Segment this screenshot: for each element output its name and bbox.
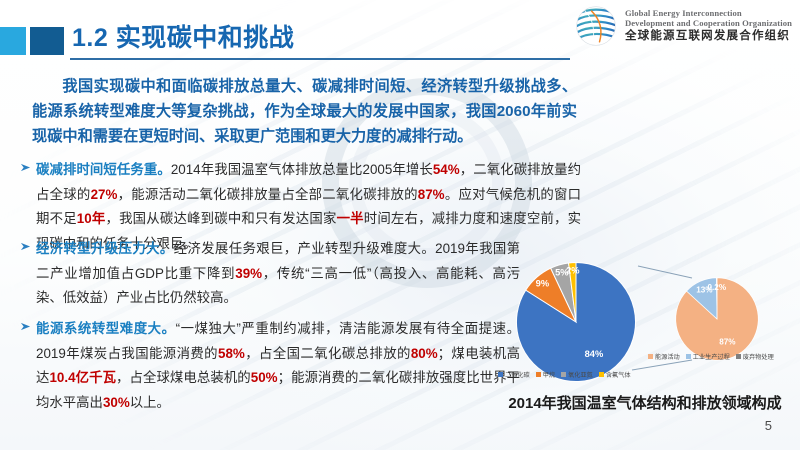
emphasis-figure: 87% — [418, 187, 445, 202]
pie-slice-label: 87% — [719, 337, 736, 346]
emphasis-figure: 27% — [91, 187, 118, 202]
legend-item[interactable]: 二氧化碳 — [498, 370, 530, 379]
legend-swatch-icon — [561, 372, 566, 377]
pie-slice-label: 84% — [585, 349, 604, 359]
legend-item[interactable]: 废弃物处理 — [736, 352, 774, 361]
legend-label: 工业生产过程 — [693, 352, 730, 361]
body-text: ，占全球煤电总装机的 — [116, 370, 251, 385]
pie-slice-label: 2% — [566, 266, 580, 276]
legend-label: 氧化亚氮 — [568, 370, 593, 379]
emphasis-figure: 54% — [433, 162, 460, 177]
legend-swatch-icon — [498, 372, 503, 377]
pie-slice-label: 0.2% — [708, 283, 727, 292]
legend-swatch-icon — [736, 354, 741, 359]
legend-swatch-icon — [648, 354, 653, 359]
page-title: 1.2 实现碳中和挑战 — [72, 18, 294, 54]
emphasis-figure: 50% — [251, 370, 278, 385]
pie-legend-greenhouse-gas: 二氧化碳甲烷氧化亚氮含氟气体 — [498, 370, 631, 379]
emphasis-figure: 80% — [411, 346, 438, 361]
emphasis-figure: 10年 — [77, 211, 106, 226]
legend-label: 废弃物处理 — [743, 352, 774, 361]
legend-label: 二氧化碳 — [505, 370, 530, 379]
body-text: ，能源活动二氧化碳排放量占全部二氧化碳排放的 — [117, 187, 417, 202]
chart-caption: 2014年我国温室气体结构和排放领域构成 — [492, 392, 798, 413]
bullet-3-body: 能源系统转型难度大。“一煤独大”严重制约减排，清洁能源发展有待全面提速。2019… — [36, 317, 520, 415]
slide-canvas: 1.2 实现碳中和挑战 — [0, 0, 800, 450]
pie-legend-emission-sector: 能源活动工业生产过程废弃物处理 — [648, 352, 774, 361]
bullet-3-heading: 能源系统转型难度大。 — [36, 321, 176, 336]
bullet-item-2: 经济转型升级压力大。经济发展任务艰巨，产业转型升级难度大。2019年我国第二产业… — [20, 237, 520, 311]
header-accent-square-dark — [30, 27, 64, 55]
bullet-item-3: 能源系统转型难度大。“一煤独大”严重制约减排，清洁能源发展有待全面提速。2019… — [20, 317, 520, 415]
page-number: 5 — [765, 418, 772, 433]
header-divider — [70, 58, 570, 60]
body-text: ，占全国二氧化碳总排放的 — [245, 346, 411, 361]
legend-item[interactable]: 氧化亚氮 — [561, 370, 593, 379]
body-text: ，我国从碳达峰到碳中和只有发达国家 — [105, 211, 336, 226]
emphasis-figure: 39% — [235, 266, 262, 281]
legend-item[interactable]: 含氟气体 — [599, 370, 631, 379]
body-text: 以上。 — [130, 395, 170, 410]
pie-slice-label: 9% — [536, 278, 550, 288]
bullet-2-body: 经济转型升级压力大。经济发展任务艰巨，产业转型升级难度大。2019年我国第二产业… — [36, 237, 520, 311]
legend-label: 甲烷 — [543, 370, 555, 379]
arrow-bullet-icon — [20, 321, 31, 332]
bullet-2-heading: 经济转型升级压力大。 — [36, 241, 174, 256]
globe-logo-icon — [574, 4, 618, 48]
pie-chart-greenhouse-gas[interactable]: 84%9%5%2% — [514, 260, 638, 384]
lead-text: 我国实现碳中和面临碳排放总量大、碳减排时间短、经济转型升级挑战多、能源系统转型难… — [32, 78, 577, 145]
legend-label: 含氟气体 — [606, 370, 631, 379]
legend-item[interactable]: 甲烷 — [536, 370, 555, 379]
logo-text: Global Energy Interconnection Developmen… — [625, 9, 792, 42]
emphasis-figure: 一半 — [337, 211, 364, 226]
logo-en-line2: Development and Cooperation Organization — [625, 19, 792, 29]
legend-swatch-icon — [686, 354, 691, 359]
legend-swatch-icon — [599, 372, 604, 377]
legend-item[interactable]: 能源活动 — [648, 352, 680, 361]
bullet-1-heading: 碳减排时间短任务重。 — [36, 162, 171, 177]
emphasis-figure: 10.4亿千瓦 — [49, 370, 116, 385]
logo-cn-name: 全球能源互联网发展合作组织 — [625, 30, 792, 43]
header-accent-square-light — [0, 27, 26, 55]
pie-chart-emission-sector[interactable]: 87%13%0.2% — [674, 276, 760, 362]
legend-item[interactable]: 工业生产过程 — [686, 352, 730, 361]
legend-label: 能源活动 — [655, 352, 680, 361]
org-logo: Global Energy Interconnection Developmen… — [574, 4, 792, 48]
arrow-bullet-icon — [20, 162, 31, 173]
emphasis-figure: 30% — [103, 395, 130, 410]
lead-paragraph: 我国实现碳中和面临碳排放总量大、碳减排时间短、经济转型升级挑战多、能源系统转型难… — [32, 74, 577, 149]
arrow-bullet-icon — [20, 241, 31, 252]
body-text: 2014年我国温室气体排放总量比2005年增长 — [171, 162, 433, 177]
emphasis-figure: 58% — [218, 346, 245, 361]
legend-swatch-icon — [536, 372, 541, 377]
